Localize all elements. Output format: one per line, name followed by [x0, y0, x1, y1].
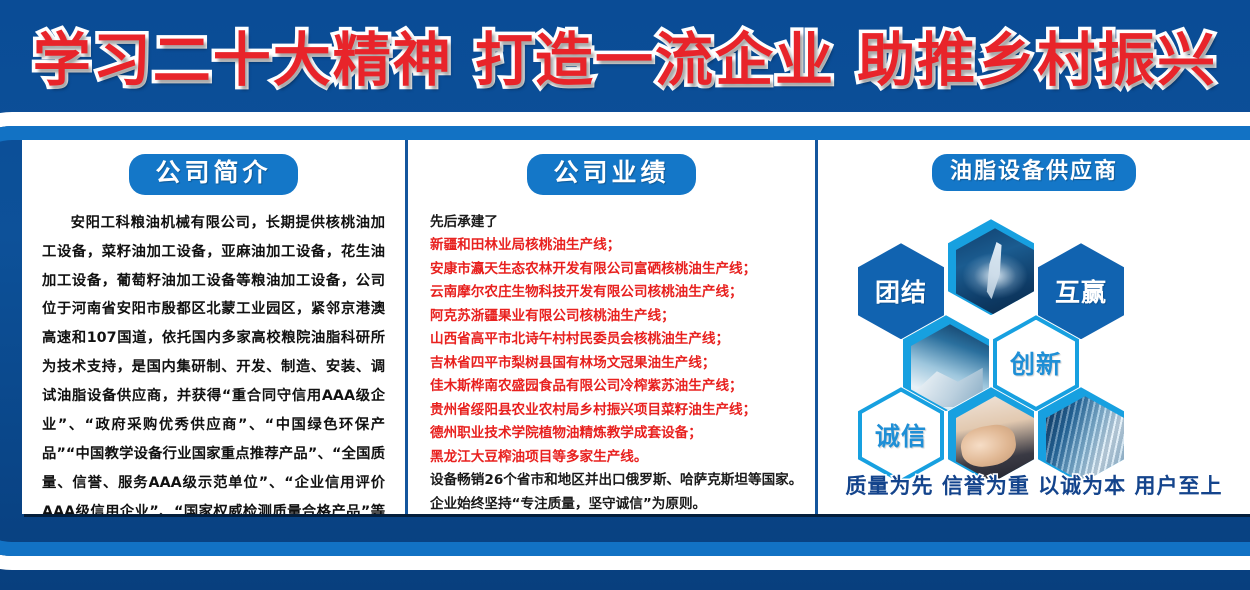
page-title: 学习二十大精神 打造一流企业 助推乡村振兴	[33, 13, 1217, 97]
performance-footer-line: 设备畅销26个省市和地区并出口俄罗斯、哈萨克斯坦等国家。	[430, 469, 793, 493]
content-area: 公司简介 安阳工科粮油机械有限公司，长期提供核桃油加工设备，菜籽油加工设备，亚麻…	[22, 140, 1250, 514]
panel-company-intro: 公司简介 安阳工科粮油机械有限公司，长期提供核桃油加工设备，菜籽油加工设备，亚麻…	[22, 140, 405, 514]
hexagon-label: 团结	[875, 273, 927, 309]
project-line: 吉林省四平市梨树县国有林场文冠果油生产线；	[430, 352, 793, 376]
project-line: 山西省高平市北诗午村村民委员会核桃油生产线；	[430, 328, 793, 352]
project-line: 黑龙江大豆榨油项目等多家生产线。	[430, 446, 793, 470]
badge-oil-equipment-supplier: 油脂设备供应商	[932, 154, 1136, 191]
aircraft-carrier-photo	[956, 228, 1034, 315]
supplier-slogan: 质量为先 信誉为重 以诚为本 用户至上	[818, 470, 1250, 500]
badge-wrap-left: 公司简介	[22, 154, 405, 195]
performance-intro: 先后承建了	[430, 211, 793, 235]
hexagon-label: 互赢	[1055, 273, 1107, 309]
hexagon-aircraft-carrier-icon	[948, 219, 1034, 315]
performance-list: 先后承建了 新疆和田林业局核桃油生产线； 安康市瀛天生态农林开发有限公司富硒核桃…	[430, 211, 793, 514]
project-line: 阿克苏浙疆果业有限公司核桃油生产线；	[430, 305, 793, 329]
hexagon-label: 诚信	[875, 417, 927, 453]
project-line: 德州职业技术学院植物油精炼教学成套设备；	[430, 422, 793, 446]
badge-company-performance: 公司业绩	[527, 154, 695, 195]
project-line: 安康市瀛天生态农林开发有限公司富硒核桃油生产线；	[430, 258, 793, 282]
badge-wrap-right: 油脂设备供应商	[818, 154, 1250, 191]
poster-root: 学习二十大精神 打造一流企业 助推乡村振兴 公司简介 安阳工科粮油机械有限公司，…	[0, 0, 1250, 590]
company-intro-body: 安阳工科粮油机械有限公司，长期提供核桃油加工设备，菜籽油加工设备，亚麻油加工设备…	[42, 209, 385, 514]
project-line: 云南摩尔农庄生物科技开发有限公司核桃油生产线；	[430, 281, 793, 305]
badge-wrap-mid: 公司业绩	[408, 154, 815, 195]
project-line: 贵州省绥阳县农业农村局乡村振兴项目菜籽油生产线；	[430, 399, 793, 423]
project-line: 佳木斯桦南农盛园食品有限公司冷榨紫苏油生产线；	[430, 375, 793, 399]
panel-company-performance: 公司业绩 先后承建了 新疆和田林业局核桃油生产线； 安康市瀛天生态农林开发有限公…	[405, 140, 818, 514]
hexagon-label: 创新	[1010, 345, 1062, 381]
header-banner: 学习二十大精神 打造一流企业 助推乡村振兴	[0, 0, 1250, 110]
panel-supplier-values: 油脂设备供应商 团结 互赢 创新	[818, 140, 1250, 514]
performance-footer-line: 企业始终坚持“专注质量，坚守诚信”为原则。	[430, 493, 793, 514]
hexagon-cluster: 团结 互赢 创新 诚信	[818, 197, 1250, 465]
badge-company-intro: 公司简介	[129, 154, 297, 195]
project-line: 新疆和田林业局核桃油生产线；	[430, 234, 793, 258]
